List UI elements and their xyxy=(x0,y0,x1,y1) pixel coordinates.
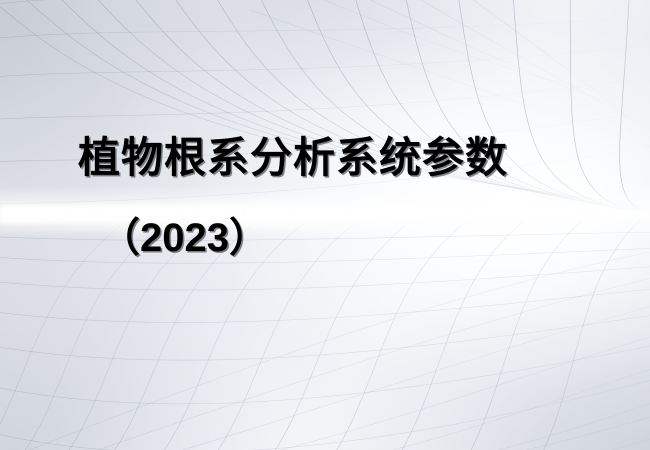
slide-title-line-1: 植物根系分析系统参数 xyxy=(0,132,650,184)
slide-title-line-2: （2023） xyxy=(0,212,650,264)
title-slide: 植物根系分析系统参数 （2023） xyxy=(0,0,650,450)
slide-title-block: 植物根系分析系统参数 （2023） xyxy=(0,132,650,264)
